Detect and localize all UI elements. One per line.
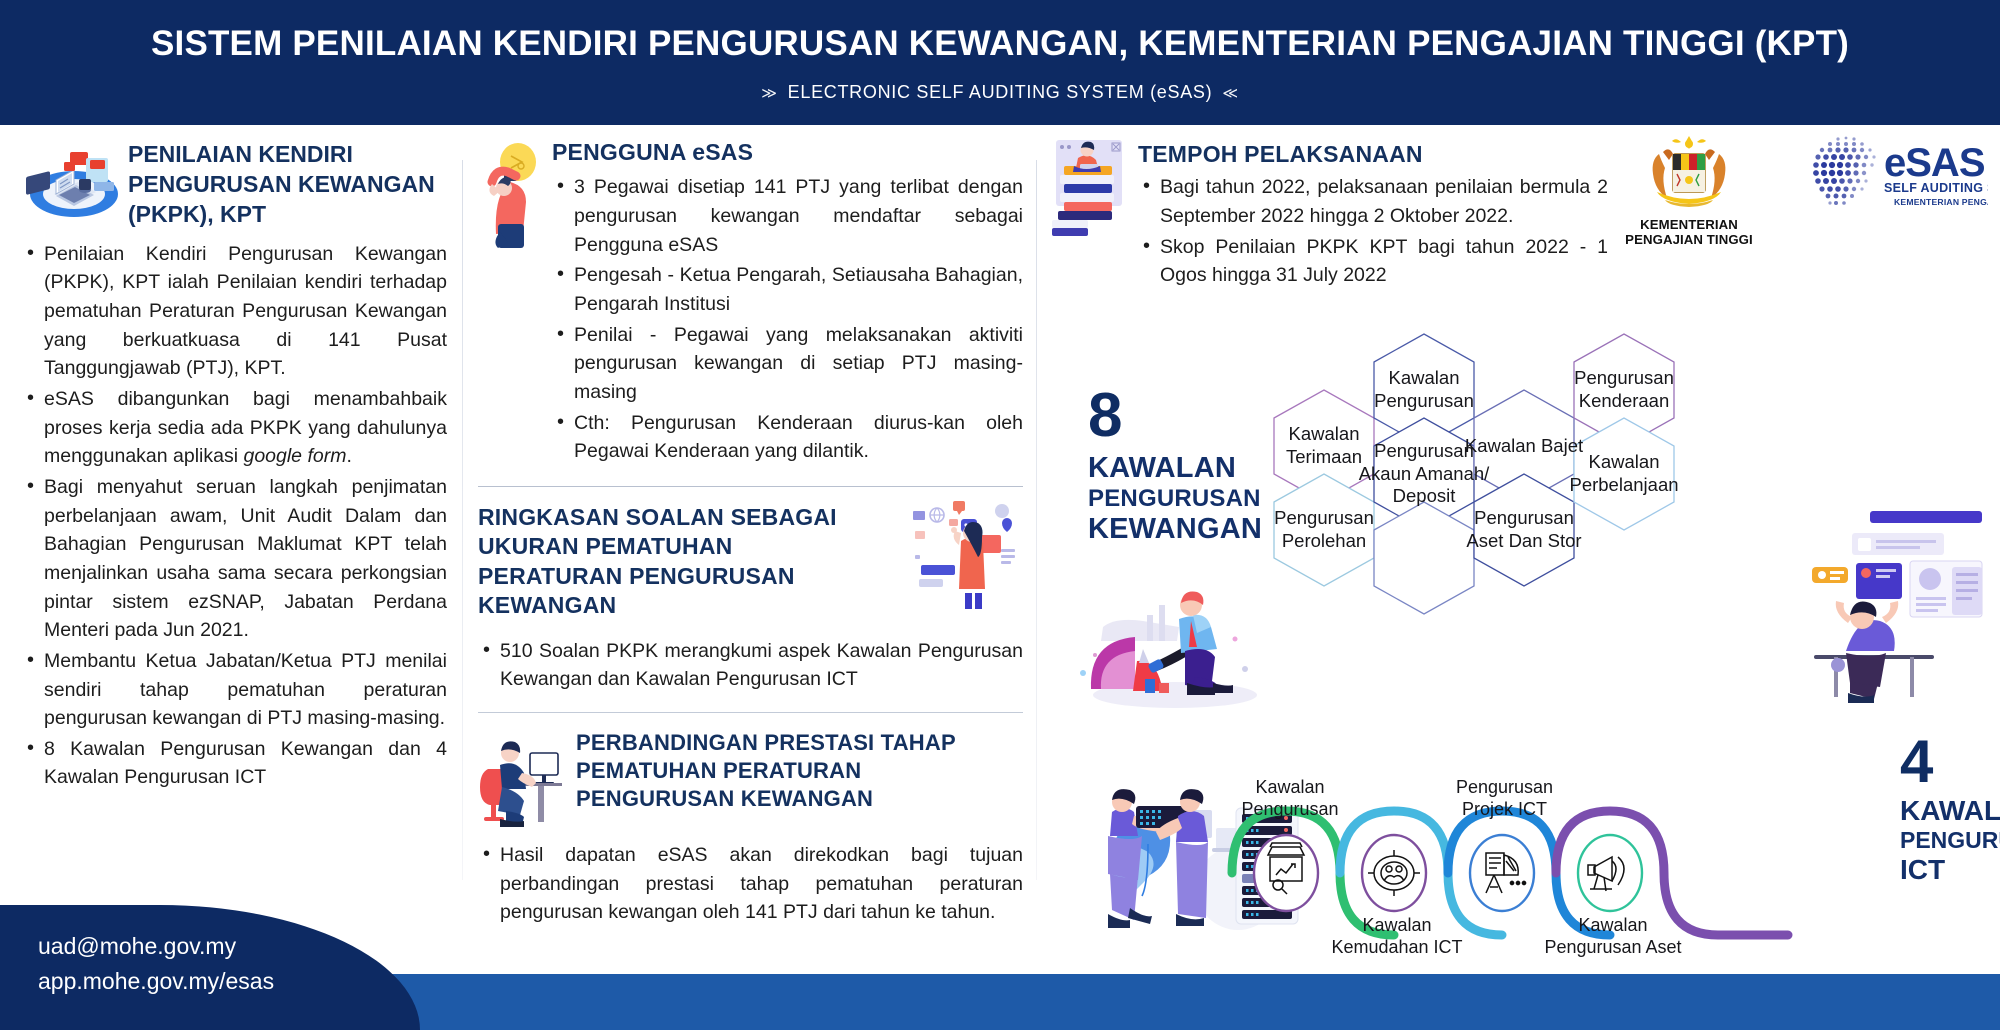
list-item: Penilaian Kendiri Pengurusan Kewangan (P…: [22, 240, 447, 383]
list-item: Pengesah - Ketua Pengarah, Setiausaha Ba…: [552, 261, 1023, 318]
chevron-left-deco-icon: ≫: [761, 84, 777, 102]
tempoh-section-title: TEMPOH PELAKSANAAN: [1138, 140, 1608, 169]
page-title: SISTEM PENILAIAN KENDIRI PENGURUSAN KEWA…: [0, 24, 2000, 64]
malaysia-coat-of-arms-icon: [1629, 132, 1749, 210]
ringkasan-section: RINGKASAN SOALAN SEBAGAI UKURAN PEMATUHA…: [478, 503, 1023, 694]
esas-logo: eSAS SELF AUDITING SYSTEM KEMENTERIAN PE…: [1808, 132, 1980, 219]
ict-section: Kawalan Pengurusan Kawalan Kemudahan ICT…: [1060, 735, 1980, 975]
ict-label-text: Pengurusan Projek ICT: [1456, 777, 1553, 819]
list-item: 8 Kawalan Pengurusan Kewangan dan 4 Kawa…: [22, 735, 447, 792]
left-section-head: PENILAIAN KENDIRI PENGURUSAN KEWANGAN (P…: [22, 138, 447, 230]
man-at-desk-illustration: [478, 729, 566, 827]
middle-column: PENGGUNA eSAS 3 Pegawai disetiap 141 PTJ…: [478, 138, 1023, 929]
tempoh-section: TEMPOH PELAKSANAAN Bagi tahun 2022, pela…: [1050, 138, 1980, 292]
ict-wave-path: [1060, 735, 1980, 975]
chevron-right-deco-icon: ≪: [1222, 84, 1238, 102]
italic-term: google form: [243, 445, 346, 467]
pengguna-bullet-list: 3 Pegawai disetiap 141 PTJ yang terlibat…: [552, 173, 1023, 466]
svg-text:eSAS: eSAS: [1884, 141, 1985, 185]
list-item: Cth: Pengurusan Kenderaan diurus-kan ole…: [552, 409, 1023, 466]
list-item-text: eSAS dibangunkan bagi menambahbaik prose…: [44, 388, 447, 467]
page-subtitle-wrap: ≫ELECTRONIC SELF AUDITING SYSTEM (eSAS)≪: [0, 82, 2000, 103]
woman-dashboard-illustration: [1790, 505, 1990, 705]
halftone-globe-icon: [1810, 136, 1882, 208]
list-item: Membantu Ketua Jabatan/Ketua PTJ menilai…: [22, 647, 447, 733]
ringkasan-section-title: RINGKASAN SOALAN SEBAGAI UKURAN PEMATUHA…: [478, 503, 878, 621]
ict-label-text: Kawalan Kemudahan ICT: [1331, 915, 1462, 957]
svg-text:SELF AUDITING SYSTEM: SELF AUDITING SYSTEM: [1884, 181, 1988, 195]
ict-label-pengurusan-aset: Kawalan Pengurusan Aset: [1538, 915, 1688, 958]
woman-digital-icons-illustration: [909, 497, 1019, 609]
person-lightbulb-illustration: [478, 138, 542, 250]
list-item: Penilai - Pegawai yang melaksanakan akti…: [552, 321, 1023, 407]
list-item: 510 Soalan PKPK merangkumi aspek Kawalan…: [478, 637, 1023, 694]
ict-label-line3: ICT: [1900, 854, 2000, 886]
footer-blob: uad@mohe.gov.my app.mohe.gov.my/esas: [0, 905, 420, 1030]
kpt-logo-caption: KEMENTERIAN PENGAJIAN TINGGI: [1604, 217, 1774, 247]
section-divider-1: [478, 486, 1023, 487]
list-item: eSAS dibangunkan bagi menambahbaik prose…: [22, 385, 447, 471]
section-divider-2: [478, 712, 1023, 713]
kpt-logo: KEMENTERIAN PENGAJIAN TINGGI: [1604, 132, 1774, 247]
column-divider-left: [462, 160, 463, 880]
ringkasan-bullet-list: 510 Soalan PKPK merangkumi aspek Kawalan…: [478, 637, 1023, 694]
list-item: Bagi tahun 2022, pelaksanaan penilaian b…: [1138, 173, 1608, 230]
perbandingan-bullet-list: Hasil dapatan eSAS akan direkodkan bagi …: [478, 841, 1023, 927]
logo-group: KEMENTERIAN PENGAJIAN TINGGI: [1604, 132, 1980, 247]
tempoh-bullet-list: Bagi tahun 2022, pelaksanaan penilaian b…: [1138, 173, 1608, 290]
perbandingan-section: PERBANDINGAN PRESTASI TAHAP PEMATUHAN PE…: [478, 729, 1023, 827]
person-on-books-illustration: [1050, 138, 1128, 238]
ict-label-kawalan-pengurusan: Kawalan Pengurusan: [1230, 777, 1350, 820]
hex-label: Pengurusan Perolehan: [1234, 507, 1414, 552]
list-item: Bagi menyahut seruan langkah penjimatan …: [22, 473, 447, 645]
ict-count-label: 4 KAWALAN PENGURUSAN ICT: [1900, 735, 2000, 886]
laptop-desk-illustration: [22, 138, 122, 224]
list-item: 3 Pegawai disetiap 141 PTJ yang terlibat…: [552, 173, 1023, 259]
ict-label-projek-ict: Pengurusan Projek ICT: [1442, 777, 1567, 820]
ict-label-kemudahan-ict: Kawalan Kemudahan ICT: [1322, 915, 1472, 958]
footer-contact: uad@mohe.gov.my app.mohe.gov.my/esas: [38, 929, 274, 998]
hex-label: Pengurusan Aset Dan Stor: [1434, 507, 1614, 552]
pengguna-section-title: PENGGUNA eSAS: [552, 138, 1023, 167]
hex-label: Pengurusan Akaun Amanah/ Deposit: [1334, 440, 1514, 508]
footer-email[interactable]: uad@mohe.gov.my: [38, 929, 274, 964]
page-subtitle: ELECTRONIC SELF AUDITING SYSTEM (eSAS): [788, 82, 1213, 102]
svg-text:KEMENTERIAN PENGAJIAN TINGGI: KEMENTERIAN PENGAJIAN TINGGI: [1894, 197, 1988, 207]
hex-label: Kawalan Perbelanjaan: [1534, 451, 1714, 496]
page-header: SISTEM PENILAIAN KENDIRI PENGURUSAN KEWA…: [0, 0, 2000, 125]
left-column: PENILAIAN KENDIRI PENGURUSAN KEWANGAN (P…: [22, 138, 447, 794]
perbandingan-section-title: PERBANDINGAN PRESTASI TAHAP PEMATUHAN PE…: [576, 729, 1023, 813]
footer-url[interactable]: app.mohe.gov.my/esas: [38, 964, 274, 999]
left-section-title: PENILAIAN KENDIRI PENGURUSAN KEWANGAN (P…: [128, 138, 447, 230]
list-item: Hasil dapatan eSAS akan direkodkan bagi …: [478, 841, 1023, 927]
ict-count: 4: [1900, 735, 2000, 789]
right-column: TEMPOH PELAKSANAAN Bagi tahun 2022, pela…: [1050, 138, 1980, 292]
ict-label-line2: PENGURUSAN: [1900, 827, 2000, 854]
ict-label-line1: KAWALAN: [1900, 795, 2000, 827]
infographic-page: SISTEM PENILAIAN KENDIRI PENGURUSAN KEWA…: [0, 0, 2000, 1030]
hex-grid: Kawalan Pengurusan Pengurusan Kenderaan …: [1246, 300, 1716, 660]
list-item: Skop Penilaian PKPK KPT bagi tahun 2022 …: [1138, 233, 1608, 290]
hex-label: Pengurusan Kenderaan: [1534, 367, 1714, 412]
hex-label: Kawalan Pengurusan: [1334, 367, 1514, 412]
ict-label-text: Kawalan Pengurusan: [1241, 777, 1338, 819]
left-bullet-list: Penilaian Kendiri Pengurusan Kewangan (P…: [22, 240, 447, 792]
pengguna-section-head: PENGGUNA eSAS 3 Pegawai disetiap 141 PTJ…: [478, 138, 1023, 468]
column-divider-right: [1036, 160, 1037, 880]
ict-label-text: Kawalan Pengurusan Aset: [1544, 915, 1681, 957]
